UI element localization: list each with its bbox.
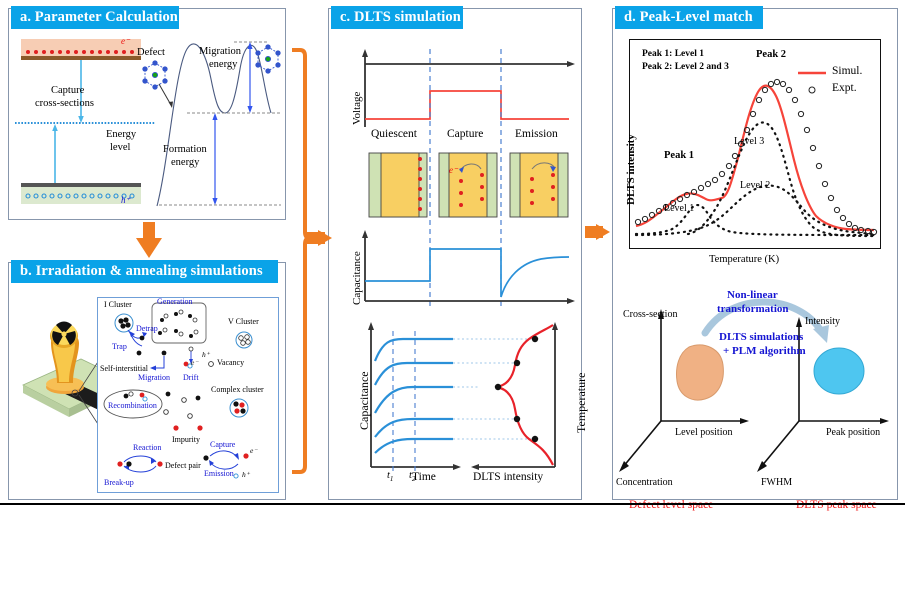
axis-label-fwhm: FWHM bbox=[761, 477, 792, 488]
caption-defect-level-space: Defect level space bbox=[629, 499, 713, 511]
panel-c-header: c. DLTS simulation bbox=[331, 6, 463, 29]
label-emission: Emission bbox=[204, 469, 234, 478]
label-energy-line1: Energy bbox=[106, 129, 136, 140]
axis-label-temperature-d: Temperature (K) bbox=[709, 254, 779, 265]
label-formation-line2: energy bbox=[171, 157, 199, 168]
defect-cluster-icon bbox=[143, 61, 167, 89]
panel-a-header: a. Parameter Calculation bbox=[11, 6, 179, 29]
bracket-ab-to-c bbox=[292, 50, 316, 472]
label-reaction: Reaction bbox=[133, 443, 161, 452]
chart-note-2: Peak 2: Level 2 and 3 bbox=[642, 62, 729, 72]
panel-c: Voltage Capacitance Capacitance Temperat… bbox=[328, 8, 582, 500]
axis-label-voltage: Voltage bbox=[351, 92, 363, 125]
label-electron-capture: e⁻ bbox=[449, 165, 458, 176]
phase-label-capture: Capture bbox=[447, 128, 483, 140]
label-electron: e⁻ bbox=[121, 36, 130, 47]
arrow-c-to-d bbox=[585, 224, 610, 240]
panel-d: Peak 1: Level 1 Peak 2: Level 2 and 3 Pe… bbox=[612, 8, 898, 500]
caption-dlts-peak-space: DLTS peak space bbox=[796, 499, 877, 511]
formation-energy-arrow bbox=[212, 113, 217, 205]
label-hole-symbol: h⁺ bbox=[202, 350, 210, 359]
junction-quiescent bbox=[369, 153, 427, 217]
tick-label-t1: t1 bbox=[387, 470, 393, 483]
curve-level-3 bbox=[688, 122, 874, 236]
junction-capture bbox=[439, 153, 497, 217]
legend-label-expt: Expt. bbox=[832, 82, 857, 94]
panel-b-title: b. Irradiation & annealing simulations bbox=[20, 263, 263, 280]
legend-swatch-expt bbox=[809, 87, 815, 93]
label-electron-symbol: e⁻ bbox=[191, 358, 198, 367]
label-capture-line1: Capture bbox=[51, 85, 84, 96]
chart-note-1: Peak 1: Level 1 bbox=[642, 49, 704, 59]
label-impurity: Impurity bbox=[172, 435, 200, 444]
label-migration-line1: Migration bbox=[199, 46, 241, 57]
axis-label-capacitance-bottom: Capacitance bbox=[357, 371, 372, 430]
chart-label-peak2: Peak 2 bbox=[756, 49, 786, 60]
label-self-interstitial: Self-interstitial bbox=[100, 364, 148, 373]
panel-b-detail-box: I Cluster Detrap Trap Self-interstitial … bbox=[97, 297, 279, 493]
label-migration-line2: energy bbox=[209, 59, 237, 70]
bottom-divider bbox=[0, 503, 905, 505]
panel-a-title: a. Parameter Calculation bbox=[20, 9, 178, 26]
capture-arrows bbox=[52, 60, 84, 183]
t2-sub: 2 bbox=[412, 475, 416, 483]
chart-label-level1: Level 1 bbox=[664, 203, 694, 214]
axis-label-dlts-intensity-d: DLTS intensity bbox=[625, 134, 637, 205]
capacitance-transients bbox=[375, 339, 453, 453]
axis-label-concentration: Concentration bbox=[616, 477, 673, 488]
label-defect-pair: Defect pair bbox=[165, 461, 201, 470]
axis-label-intensity: Intensity bbox=[805, 316, 840, 327]
transform-label-line4: + PLM algorithm bbox=[723, 345, 806, 357]
axis-label-peak-position: Peak position bbox=[826, 427, 880, 438]
axis-label-level-position: Level position bbox=[675, 427, 733, 438]
chart-label-level2: Level 2 bbox=[740, 180, 770, 191]
axis-label-cross-section: Cross-section bbox=[623, 309, 677, 320]
transform-label-line2: transformation bbox=[717, 303, 789, 315]
label-vacancy: Vacancy bbox=[217, 358, 244, 367]
label-i-cluster: I Cluster bbox=[104, 300, 132, 309]
arrow-a-to-b bbox=[136, 222, 162, 258]
label-hole-symbol-2: h⁺ bbox=[242, 470, 250, 479]
label-capture: Capture bbox=[210, 440, 235, 449]
transform-label-line1: Non-linear bbox=[727, 289, 778, 301]
label-hole: h⁺ bbox=[121, 195, 130, 206]
panel-b-header: b. Irradiation & annealing simulations bbox=[11, 260, 278, 283]
dlts-match-chart: Peak 1: Level 1 Peak 2: Level 2 and 3 Pe… bbox=[629, 39, 881, 249]
panel-d-header: d. Peak-Level match bbox=[615, 6, 763, 29]
legend-label-simul: Simul. bbox=[832, 65, 862, 77]
panel-b: I Cluster Detrap Trap Self-interstitial … bbox=[8, 262, 286, 500]
axis-label-capacitance-top: Capacitance bbox=[351, 251, 363, 305]
capacitance-transient-trace bbox=[365, 249, 569, 297]
label-energy-line2: level bbox=[110, 142, 130, 153]
transform-label-line3: DLTS simulations bbox=[719, 331, 803, 343]
t1-sub: 1 bbox=[390, 475, 394, 483]
dlts-peak-curve bbox=[497, 325, 553, 465]
label-trap: Trap bbox=[112, 342, 127, 351]
label-detrap: Detrap bbox=[136, 324, 158, 333]
phase-label-emission: Emission bbox=[515, 128, 558, 140]
chart-label-peak1: Peak 1 bbox=[664, 150, 694, 161]
axis-label-time: Time bbox=[412, 471, 436, 483]
panel-d-title: d. Peak-Level match bbox=[624, 9, 753, 26]
panel-c-title: c. DLTS simulation bbox=[340, 9, 461, 26]
phase-label-quiescent: Quiescent bbox=[371, 128, 417, 140]
voltage-pulse-trace bbox=[365, 91, 569, 119]
blob-defect-level-space bbox=[677, 345, 724, 400]
axis-label-temperature: Temperature bbox=[574, 373, 589, 433]
migration-energy-arrow bbox=[247, 42, 252, 113]
label-migration: Migration bbox=[138, 373, 170, 382]
figure-canvas: Capture cross-sections Energy level Defe… bbox=[0, 0, 905, 505]
panel-a: Capture cross-sections Energy level Defe… bbox=[8, 8, 286, 220]
label-v-cluster: V Cluster bbox=[228, 317, 259, 326]
label-electron-symbol-2: e⁻ bbox=[250, 446, 257, 455]
label-breakup: Break-up bbox=[104, 478, 134, 487]
label-recombination: Recombination bbox=[108, 401, 157, 410]
blob-dlts-peak-space bbox=[814, 348, 864, 394]
axis-label-dlts-intensity: DLTS intensity bbox=[473, 471, 543, 483]
label-drift: Drift bbox=[183, 373, 199, 382]
label-complex-cluster: Complex cluster bbox=[211, 385, 264, 394]
chart-label-level3: Level 3 bbox=[734, 136, 764, 147]
panel-a-graphic bbox=[9, 9, 285, 219]
label-defect: Defect bbox=[137, 47, 165, 58]
label-generation: Generation bbox=[157, 297, 193, 306]
tick-label-t2: t2 bbox=[409, 470, 415, 483]
label-formation-line1: Formation bbox=[163, 144, 207, 155]
label-capture-line2: cross-sections bbox=[35, 98, 94, 109]
junction-emission bbox=[510, 153, 568, 217]
